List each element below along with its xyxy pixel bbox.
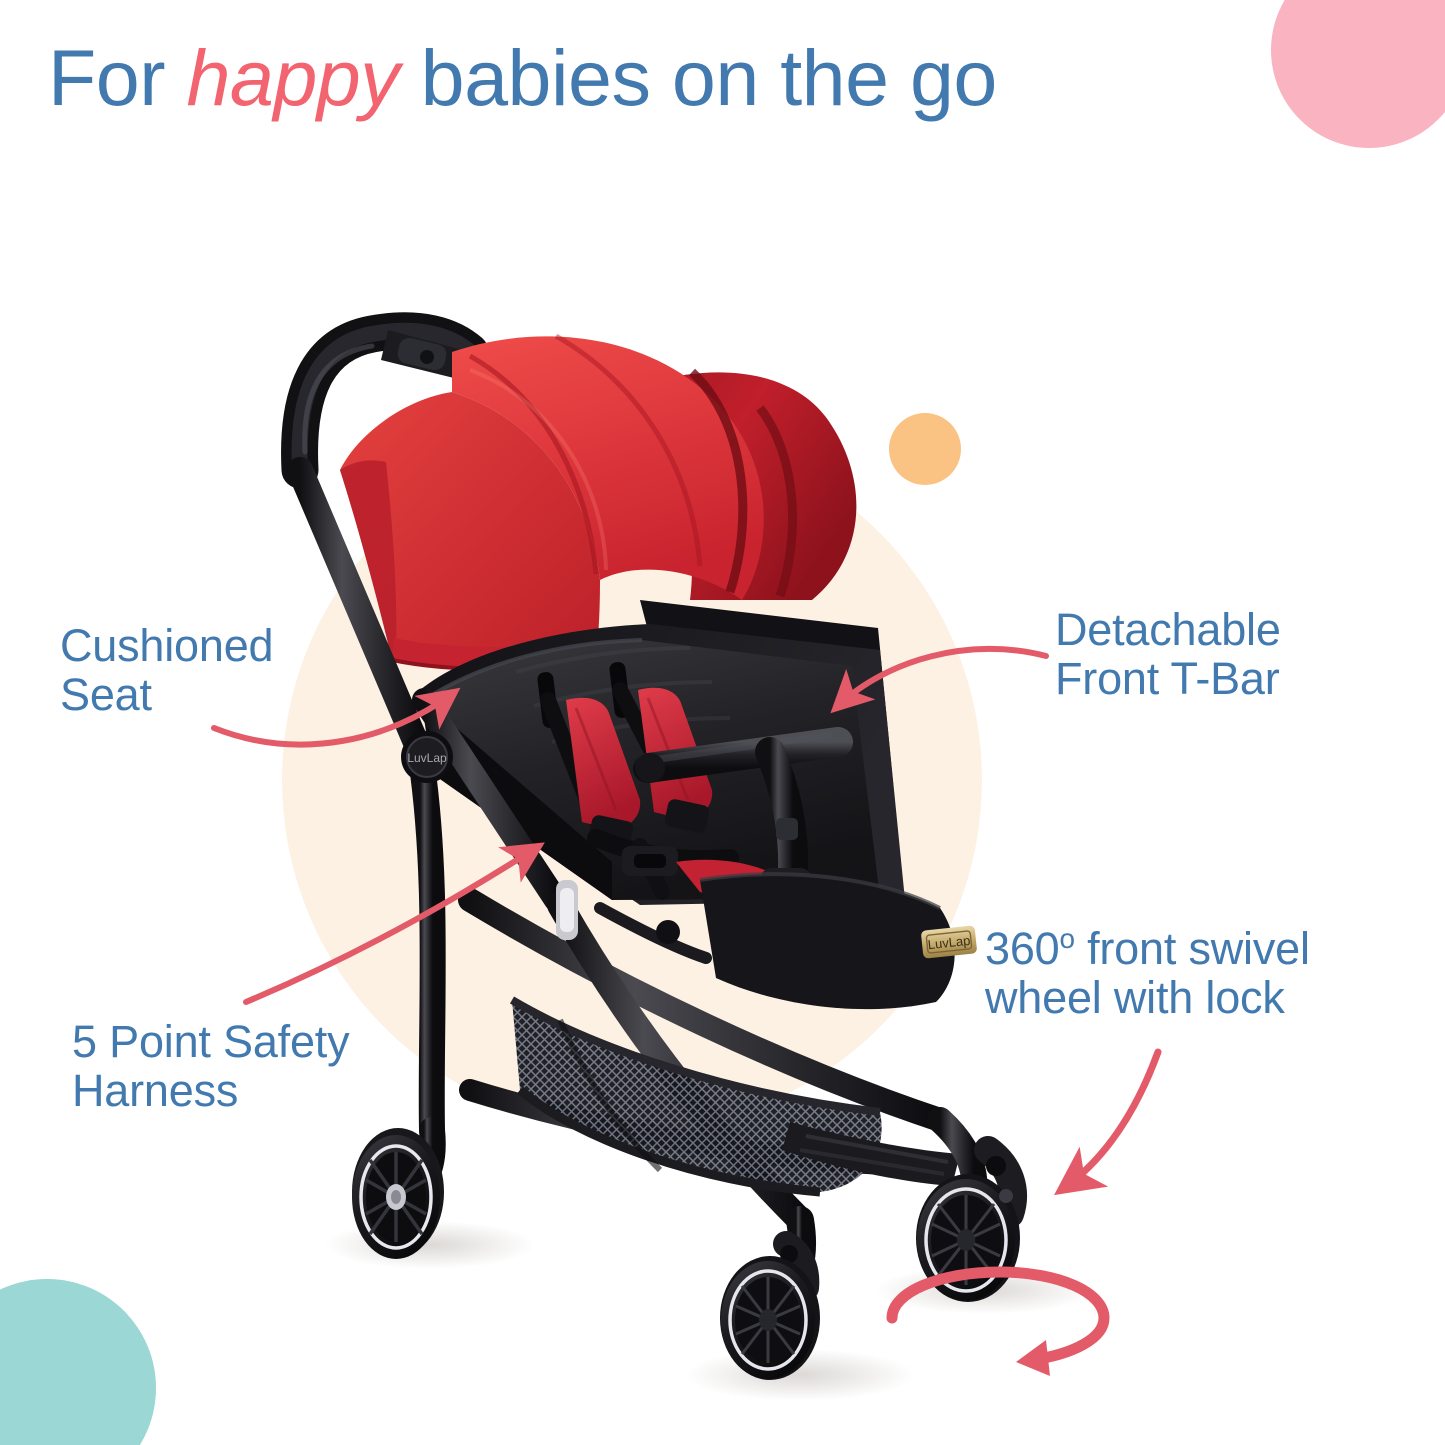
front-wheel-left[interactable] [720,1220,820,1380]
infographic-poster: For happy babies on the go [0,0,1445,1445]
callout-safety-harness: 5 Point Safety Harness [72,1018,349,1115]
frame-brand-badge: LuvLap [401,731,453,783]
swivel-degrees-value: 360 [985,923,1059,974]
footrest: LuvLap [700,874,977,1009]
swivel-line1-rest: front swivel [1075,923,1310,974]
callout-cushioned-seat: Cushioned Seat [60,622,273,719]
svg-text:LuvLap: LuvLap [407,751,447,765]
swivel-line2: wheel with lock [985,972,1285,1023]
callout-front-tbar: Detachable Front T-Bar [1055,606,1281,703]
stroller-product-image: LuvLap LuvL [0,0,1445,1445]
front-wheel-right[interactable] [916,1120,1020,1302]
degree-symbol: o [1059,923,1074,954]
footrest-brand-tag: LuvLap [921,925,978,958]
callout-swivel-wheel: 360o front swivelwheel with lock [985,925,1310,1022]
